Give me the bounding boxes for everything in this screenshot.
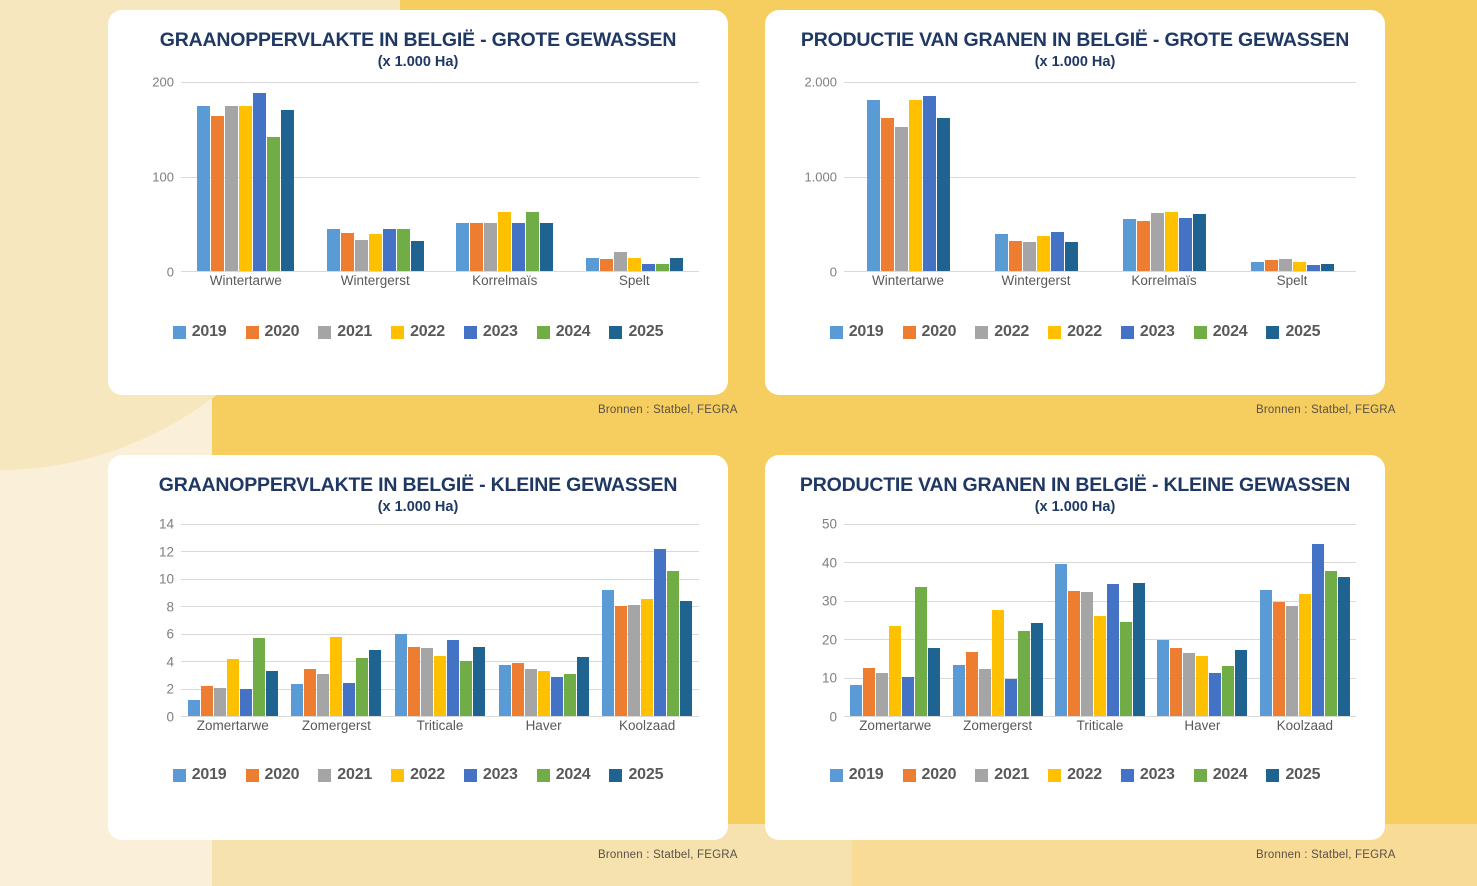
- bar-group: [595, 524, 699, 716]
- legend-item[interactable]: 2021: [318, 766, 372, 784]
- chart-legend: 2019202020212022202320242025: [108, 323, 728, 341]
- bar: [1312, 544, 1324, 716]
- chart-legend: 2019202020212022202320242025: [765, 766, 1385, 784]
- bar-groups: [844, 524, 1356, 716]
- bar-group: [1254, 524, 1356, 716]
- legend-item[interactable]: 2019: [173, 323, 227, 341]
- bar: [1279, 259, 1292, 271]
- legend-label: 2020: [265, 766, 300, 784]
- legend-swatch-icon: [609, 769, 622, 782]
- legend-label: 2023: [1140, 766, 1175, 784]
- legend-swatch-icon: [246, 326, 259, 339]
- bar-groups: [181, 524, 699, 716]
- y-axis-tick-label: 100: [152, 170, 174, 185]
- bar: [876, 673, 888, 716]
- bar: [327, 229, 340, 271]
- bar: [225, 106, 238, 271]
- bar: [966, 652, 978, 716]
- bar-group: [844, 524, 946, 716]
- y-axis-tick-label: 50: [822, 517, 837, 532]
- bar: [1051, 232, 1064, 271]
- legend-item[interactable]: 2023: [1121, 766, 1175, 784]
- x-axis-label: Wintergerst: [972, 273, 1100, 297]
- chart-legend: 2019202020222022202320242025: [765, 323, 1385, 341]
- bar: [1293, 262, 1306, 271]
- bar: [330, 637, 342, 716]
- x-axis-label: Haver: [492, 718, 596, 742]
- bar: [1005, 679, 1017, 716]
- legend-item[interactable]: 2024: [1194, 323, 1248, 341]
- bar: [355, 240, 368, 271]
- axis-area: 01.0002.000: [844, 82, 1356, 271]
- legend-label: 2023: [483, 323, 518, 341]
- dashboard-grid: GRAANOPPERVLAKTE IN BELGIË - GROTE GEWAS…: [0, 0, 1477, 886]
- bar: [1065, 242, 1078, 271]
- y-axis-tick-label: 0: [830, 265, 837, 280]
- bar: [291, 684, 303, 716]
- legend-item[interactable]: 2025: [1266, 323, 1320, 341]
- bar: [240, 689, 252, 716]
- bar: [1120, 622, 1132, 716]
- bar: [214, 688, 226, 716]
- y-axis-tick-label: 0: [167, 265, 174, 280]
- plot-area: 0100200 WintertarweWintergerstKorrelmaïs…: [129, 82, 707, 297]
- bar-group: [285, 524, 389, 716]
- bar: [881, 118, 894, 271]
- y-axis-tick-label: 10: [822, 671, 837, 686]
- bar: [1009, 241, 1022, 271]
- bar: [1183, 653, 1195, 716]
- bar: [1251, 262, 1264, 271]
- bar: [434, 656, 446, 716]
- legend-swatch-icon: [173, 326, 186, 339]
- bar: [641, 599, 653, 716]
- bar-group: [492, 524, 596, 716]
- y-axis-tick-label: 8: [166, 599, 174, 614]
- bar: [1018, 631, 1030, 716]
- bar: [1023, 242, 1036, 271]
- bar: [304, 669, 316, 716]
- y-axis-tick-label: 14: [159, 517, 174, 532]
- bar: [211, 116, 224, 271]
- bar: [902, 677, 914, 716]
- x-axis-label: Spelt: [570, 273, 700, 297]
- legend-label: 2022: [410, 766, 445, 784]
- legend-item[interactable]: 2020: [246, 323, 300, 341]
- bar: [540, 223, 553, 271]
- y-axis-tick-label: 40: [822, 555, 837, 570]
- legend-label: 2024: [556, 323, 591, 341]
- bar: [525, 669, 537, 716]
- bar: [1260, 590, 1272, 716]
- y-axis-tick-label: 2: [166, 682, 174, 697]
- x-axis-label: Triticale: [1049, 718, 1151, 742]
- legend-swatch-icon: [903, 326, 916, 339]
- chart-title: GRAANOPPERVLAKTE IN BELGIË - GROTE GEWAS…: [108, 10, 728, 51]
- legend-swatch-icon: [1048, 769, 1061, 782]
- bar: [473, 647, 485, 716]
- bar: [628, 258, 641, 271]
- bar: [867, 100, 880, 271]
- bar: [1325, 571, 1337, 716]
- plot-area: 01.0002.000 WintertarweWintergerstKorrel…: [786, 82, 1364, 297]
- bar: [909, 100, 922, 271]
- x-axis-label: Zomergerst: [946, 718, 1048, 742]
- bar: [656, 264, 669, 272]
- legend-label: 2024: [1213, 323, 1248, 341]
- bar: [499, 665, 511, 716]
- legend-swatch-icon: [903, 769, 916, 782]
- bar: [642, 264, 655, 272]
- legend-swatch-icon: [318, 769, 331, 782]
- legend-swatch-icon: [1194, 326, 1207, 339]
- bar: [512, 663, 524, 716]
- legend-swatch-icon: [173, 769, 186, 782]
- bar: [1055, 564, 1067, 716]
- legend-item[interactable]: 2025: [609, 323, 663, 341]
- legend-label: 2022: [1067, 323, 1102, 341]
- bar: [654, 549, 666, 716]
- axis-area: 01020304050: [844, 524, 1356, 716]
- x-axis-label: Zomergerst: [285, 718, 389, 742]
- y-axis-tick-label: 2.000: [804, 75, 837, 90]
- bar: [447, 640, 459, 716]
- chart-subtitle: (x 1.000 Ha): [765, 496, 1385, 515]
- bar: [564, 674, 576, 717]
- legend-item[interactable]: 2023: [1121, 323, 1175, 341]
- bar: [895, 127, 908, 271]
- bar: [341, 233, 354, 271]
- bar: [863, 668, 875, 716]
- chart-subtitle: (x 1.000 Ha): [108, 496, 728, 515]
- bar: [188, 700, 200, 716]
- source-note: Bronnen : Statbel, FEGRA: [598, 849, 738, 861]
- bar-group: [1151, 524, 1253, 716]
- x-axis-label: Wintertarwe: [181, 273, 311, 297]
- bar: [586, 258, 599, 271]
- bar: [1196, 656, 1208, 716]
- legend-label: 2023: [483, 766, 518, 784]
- bar: [1235, 650, 1247, 716]
- y-axis-tick-label: 0: [829, 710, 837, 725]
- bar: [1151, 213, 1164, 271]
- bar: [670, 258, 683, 271]
- legend-swatch-icon: [1048, 326, 1061, 339]
- bar: [281, 110, 294, 271]
- bar: [369, 650, 381, 717]
- bar: [680, 601, 692, 716]
- x-axis-label: Haver: [1151, 718, 1253, 742]
- y-axis-tick-label: 30: [822, 594, 837, 609]
- bar: [538, 671, 550, 716]
- gridline: 0: [844, 716, 1356, 717]
- legend-item[interactable]: 2019: [830, 766, 884, 784]
- legend-swatch-icon: [1121, 326, 1134, 339]
- bar: [1123, 219, 1136, 271]
- legend-item[interactable]: 2022: [1048, 323, 1102, 341]
- bar: [395, 634, 407, 716]
- legend-item[interactable]: 2024: [537, 323, 591, 341]
- bar: [456, 223, 469, 271]
- legend-swatch-icon: [975, 326, 988, 339]
- legend-label: 2020: [265, 323, 300, 341]
- bar: [928, 648, 940, 716]
- chart-panel-productie-granen-grote-gewassen: PRODUCTIE VAN GRANEN IN BELGIË - GROTE G…: [765, 10, 1385, 395]
- bar: [600, 259, 613, 271]
- bar: [995, 234, 1008, 271]
- gridline: 0: [844, 271, 1356, 272]
- legend-swatch-icon: [537, 769, 550, 782]
- bar: [992, 610, 1004, 716]
- legend-label: 2019: [849, 766, 884, 784]
- bar: [383, 229, 396, 271]
- legend-swatch-icon: [1266, 326, 1279, 339]
- legend-swatch-icon: [537, 326, 550, 339]
- bar: [253, 638, 265, 716]
- bar: [937, 118, 950, 271]
- legend-swatch-icon: [464, 326, 477, 339]
- bar: [227, 659, 239, 716]
- bar: [1094, 616, 1106, 716]
- legend-swatch-icon: [609, 326, 622, 339]
- bar-group: [311, 82, 441, 271]
- x-axis-label: Zomertarwe: [844, 718, 946, 742]
- y-axis-tick-label: 0: [166, 710, 174, 725]
- bar: [1170, 648, 1182, 716]
- bar: [1222, 666, 1234, 716]
- bar: [411, 241, 424, 271]
- chart-title: PRODUCTIE VAN GRANEN IN BELGIË - GROTE G…: [765, 10, 1385, 51]
- x-axis-label: Korrelmaïs: [440, 273, 570, 297]
- legend-item[interactable]: 2024: [1194, 766, 1248, 784]
- axis-area: 0100200: [181, 82, 699, 271]
- chart-subtitle: (x 1.000 Ha): [108, 51, 728, 70]
- legend-item[interactable]: 2025: [1266, 766, 1320, 784]
- bar: [615, 606, 627, 716]
- bar: [602, 590, 614, 716]
- legend-label: 2021: [994, 766, 1029, 784]
- legend-label: 2019: [849, 323, 884, 341]
- x-axis-label: Koolzaad: [1254, 718, 1356, 742]
- bar-group: [1100, 82, 1228, 271]
- bar: [1133, 583, 1145, 716]
- legend-item[interactable]: 2025: [609, 766, 663, 784]
- legend-swatch-icon: [830, 769, 843, 782]
- bar: [266, 671, 278, 716]
- bar: [484, 223, 497, 271]
- legend-label: 2022: [1067, 766, 1102, 784]
- bar: [1068, 591, 1080, 716]
- bar: [317, 674, 329, 717]
- x-axis-label: Koolzaad: [595, 718, 699, 742]
- legend-label: 2019: [192, 323, 227, 341]
- bar: [1107, 584, 1119, 716]
- legend-swatch-icon: [1194, 769, 1207, 782]
- bar: [1157, 640, 1169, 716]
- plot-area: 02468101214 ZomertarweZomergerstTritical…: [129, 524, 707, 742]
- legend-label: 2023: [1140, 323, 1175, 341]
- legend-label: 2022: [410, 323, 445, 341]
- bar-group: [440, 82, 570, 271]
- bar: [915, 587, 927, 716]
- legend-label: 2020: [922, 766, 957, 784]
- y-axis-tick-label: 12: [159, 544, 174, 559]
- bar: [551, 677, 563, 716]
- bar-group: [181, 524, 285, 716]
- legend-label: 2022: [994, 323, 1029, 341]
- bar: [267, 137, 280, 271]
- source-note: Bronnen : Statbel, FEGRA: [1256, 849, 1396, 861]
- bar: [343, 683, 355, 716]
- legend-swatch-icon: [391, 769, 404, 782]
- y-axis-tick-label: 20: [822, 632, 837, 647]
- chart-panel-productie-granen-kleine-gewassen: PRODUCTIE VAN GRANEN IN BELGIË - KLEINE …: [765, 455, 1385, 840]
- bar: [526, 212, 539, 271]
- legend-item[interactable]: 2022: [1048, 766, 1102, 784]
- x-axis-label: Triticale: [388, 718, 492, 742]
- bar: [356, 658, 368, 716]
- bar: [421, 648, 433, 716]
- bar-group: [946, 524, 1048, 716]
- bar: [850, 685, 862, 716]
- legend-label: 2025: [1285, 323, 1320, 341]
- x-axis-labels: ZomertarweZomergerstTriticaleHaverKoolza…: [844, 718, 1356, 742]
- x-axis-label: Wintertarwe: [844, 273, 972, 297]
- bar: [470, 223, 483, 271]
- bar: [1265, 260, 1278, 271]
- legend-swatch-icon: [464, 769, 477, 782]
- legend-item[interactable]: 2021: [318, 323, 372, 341]
- legend-label: 2021: [337, 766, 372, 784]
- legend-swatch-icon: [246, 769, 259, 782]
- bar: [201, 686, 213, 716]
- source-note: Bronnen : Statbel, FEGRA: [1256, 404, 1396, 416]
- bar: [498, 212, 511, 271]
- chart-title: GRAANOPPERVLAKTE IN BELGIË - KLEINE GEWA…: [108, 455, 728, 496]
- y-axis-tick-label: 1.000: [804, 170, 837, 185]
- bar-group: [570, 82, 700, 271]
- bar: [1307, 265, 1320, 271]
- legend-label: 2024: [1213, 766, 1248, 784]
- bar: [889, 626, 901, 716]
- bar: [408, 647, 420, 716]
- y-axis-tick-label: 4: [166, 654, 174, 669]
- bar: [923, 96, 936, 271]
- source-note: Bronnen : Statbel, FEGRA: [598, 404, 738, 416]
- chart-subtitle: (x 1.000 Ha): [765, 51, 1385, 70]
- bar: [1137, 221, 1150, 271]
- chart-panel-graanoppervlakte-kleine-gewassen: GRAANOPPERVLAKTE IN BELGIË - KLEINE GEWA…: [108, 455, 728, 840]
- bar-group: [181, 82, 311, 271]
- legend-item[interactable]: 2022: [975, 323, 1029, 341]
- bar-group: [388, 524, 492, 716]
- bar: [239, 106, 252, 271]
- axis-area: 02468101214: [181, 524, 699, 716]
- bar: [512, 223, 525, 271]
- chart-title: PRODUCTIE VAN GRANEN IN BELGIË - KLEINE …: [765, 455, 1385, 496]
- bar: [1165, 212, 1178, 271]
- bar-groups: [844, 82, 1356, 271]
- legend-item[interactable]: 2023: [464, 323, 518, 341]
- gridline: 0: [181, 716, 699, 717]
- legend-item[interactable]: 2019: [830, 323, 884, 341]
- bar: [253, 93, 266, 271]
- legend-label: 2020: [922, 323, 957, 341]
- legend-item[interactable]: 2020: [903, 323, 957, 341]
- bar: [1193, 214, 1206, 271]
- bar: [1031, 623, 1043, 716]
- legend-item[interactable]: 2020: [246, 766, 300, 784]
- bar: [1273, 602, 1285, 716]
- x-axis-labels: WintertarweWintergerstKorrelmaïsSpelt: [181, 273, 699, 297]
- legend-label: 2025: [628, 323, 663, 341]
- bar: [1338, 577, 1350, 716]
- bar: [369, 234, 382, 271]
- legend-swatch-icon: [975, 769, 988, 782]
- bar: [614, 252, 627, 271]
- x-axis-label: Spelt: [1228, 273, 1356, 297]
- bar: [397, 229, 410, 271]
- legend-item[interactable]: 2020: [903, 766, 957, 784]
- bar: [667, 571, 679, 716]
- legend-item[interactable]: 2022: [391, 323, 445, 341]
- bar-group: [1228, 82, 1356, 271]
- legend-item[interactable]: 2019: [173, 766, 227, 784]
- bar: [197, 106, 210, 271]
- legend-item[interactable]: 2023: [464, 766, 518, 784]
- bar: [1299, 594, 1311, 716]
- bar: [1286, 606, 1298, 716]
- legend-item[interactable]: 2024: [537, 766, 591, 784]
- bar: [577, 657, 589, 716]
- bar: [1037, 236, 1050, 271]
- legend-swatch-icon: [1266, 769, 1279, 782]
- plot-area: 01020304050 ZomertarweZomergerstTritical…: [786, 524, 1364, 742]
- x-axis-label: Zomertarwe: [181, 718, 285, 742]
- legend-swatch-icon: [318, 326, 331, 339]
- bar: [1081, 592, 1093, 716]
- bar: [953, 665, 965, 716]
- chart-legend: 2019202020212022202320242025: [108, 766, 728, 784]
- legend-label: 2019: [192, 766, 227, 784]
- x-axis-label: Korrelmaïs: [1100, 273, 1228, 297]
- bar: [628, 605, 640, 716]
- legend-swatch-icon: [1121, 769, 1134, 782]
- x-axis-labels: ZomertarweZomergerstTriticaleHaverKoolza…: [181, 718, 699, 742]
- legend-label: 2025: [628, 766, 663, 784]
- bar-group: [1049, 524, 1151, 716]
- x-axis-labels: WintertarweWintergerstKorrelmaïsSpelt: [844, 273, 1356, 297]
- legend-label: 2025: [1285, 766, 1320, 784]
- legend-item[interactable]: 2021: [975, 766, 1029, 784]
- legend-label: 2021: [337, 323, 372, 341]
- bar: [1209, 673, 1221, 716]
- legend-item[interactable]: 2022: [391, 766, 445, 784]
- legend-label: 2024: [556, 766, 591, 784]
- bar: [979, 669, 991, 716]
- bar-groups: [181, 82, 699, 271]
- bar-group: [972, 82, 1100, 271]
- x-axis-label: Wintergerst: [311, 273, 441, 297]
- y-axis-tick-label: 10: [159, 572, 174, 587]
- bar: [460, 661, 472, 716]
- chart-panel-graanoppervlakte-grote-gewassen: GRAANOPPERVLAKTE IN BELGIË - GROTE GEWAS…: [108, 10, 728, 395]
- legend-swatch-icon: [830, 326, 843, 339]
- legend-swatch-icon: [391, 326, 404, 339]
- gridline: 0: [181, 271, 699, 272]
- bar: [1321, 264, 1334, 271]
- bar: [1179, 218, 1192, 271]
